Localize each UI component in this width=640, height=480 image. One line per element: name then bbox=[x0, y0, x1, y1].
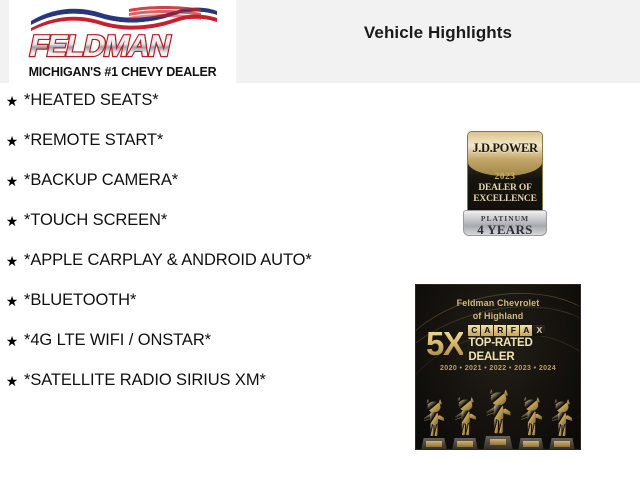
carfax-dealer-line2: of Highland bbox=[416, 310, 580, 323]
list-item: ★ *HEATED SEATS* bbox=[0, 88, 400, 114]
list-item-label: *HEATED SEATS* bbox=[24, 88, 159, 113]
list-item-label: *BLUETOOTH* bbox=[24, 288, 136, 313]
star-icon: ★ bbox=[0, 208, 24, 234]
carfax-trophy bbox=[547, 394, 577, 450]
feldman-wordmark: FELDMAN FELDMAN bbox=[20, 28, 225, 64]
list-item: ★ *BACKUP CAMERA* bbox=[0, 168, 400, 194]
carfax-letter: C bbox=[468, 325, 480, 336]
carfax-letter: F bbox=[507, 325, 519, 336]
carfax-dealer-line1: Feldman Chevrolet bbox=[416, 297, 580, 310]
list-item-label: *TOUCH SCREEN* bbox=[24, 208, 167, 233]
jd-power-award-title: DEALER OF EXCELLENCE bbox=[468, 183, 542, 205]
dealer-tagline: MICHIGAN'S #1 CHEVY DEALER bbox=[29, 65, 217, 79]
list-item: ★ *4G LTE WIFI / ONSTAR* bbox=[0, 328, 400, 354]
star-icon: ★ bbox=[0, 248, 24, 274]
carfax-logo-icon: C A R F A X bbox=[468, 325, 545, 336]
star-icon: ★ bbox=[0, 168, 24, 194]
carfax-trophy-row bbox=[416, 377, 580, 450]
carfax-letter: A bbox=[520, 325, 532, 336]
list-item: ★ *BLUETOOTH* bbox=[0, 288, 400, 314]
jd-power-award-line1: DEALER OF bbox=[468, 183, 542, 194]
svg-text:FELDMAN: FELDMAN bbox=[27, 30, 174, 63]
carfax-trophy-base bbox=[549, 438, 575, 450]
carfax-trophy bbox=[481, 383, 515, 450]
star-icon: ★ bbox=[0, 288, 24, 314]
carfax-rating-line1: TOP-RATED bbox=[468, 337, 545, 350]
carfax-trophy bbox=[516, 391, 546, 450]
vehicle-highlights-list: ★ *HEATED SEATS* ★ *REMOTE START* ★ *BAC… bbox=[0, 88, 400, 408]
carfax-trophy-base bbox=[483, 436, 513, 450]
carfax-letter: R bbox=[494, 325, 506, 336]
carfax-trophy-base bbox=[518, 438, 544, 450]
list-item-label: *SATELLITE RADIO SIRIUS XM* bbox=[24, 368, 266, 393]
list-item-label: *BACKUP CAMERA* bbox=[24, 168, 178, 193]
carfax-dealer-name: Feldman Chevrolet of Highland bbox=[416, 297, 580, 322]
dealer-logo[interactable]: FELDMAN FELDMAN MICHIGAN'S #1 CHEVY DEAL… bbox=[9, 0, 236, 83]
carfax-letter: X bbox=[533, 325, 545, 336]
carfax-trophy-base bbox=[421, 438, 447, 450]
carfax-rating-block: 5X C A R F A X TOP-RATED DEALER bbox=[426, 326, 574, 362]
jd-power-brand-label: J.D.POWER bbox=[468, 141, 542, 156]
carfax-trophy bbox=[450, 391, 480, 450]
carfax-rating-line2: DEALER bbox=[468, 351, 545, 364]
carfax-brand-block: C A R F A X TOP-RATED DEALER bbox=[468, 325, 545, 363]
list-item-label: *4G LTE WIFI / ONSTAR* bbox=[24, 328, 211, 353]
star-icon: ★ bbox=[0, 368, 24, 394]
carfax-award-years: 2020 • 2021 • 2022 • 2023 • 2024 bbox=[416, 365, 580, 372]
carfax-trophy-plate bbox=[490, 439, 506, 445]
list-item: ★ *SATELLITE RADIO SIRIUS XM* bbox=[0, 368, 400, 394]
carfax-trophy-plate bbox=[457, 441, 473, 447]
carfax-top-rated-dealer-award: Feldman Chevrolet of Highland 5X C A R F… bbox=[415, 284, 581, 450]
list-item: ★ *APPLE CARPLAY & ANDROID AUTO* bbox=[0, 248, 400, 274]
jd-power-base: PLATINUM 4 YEARS bbox=[463, 210, 547, 236]
carfax-letter: A bbox=[481, 325, 493, 336]
star-icon: ★ bbox=[0, 88, 24, 114]
jd-power-plate: J.D.POWER 2023 DEALER OF EXCELLENCE bbox=[467, 131, 543, 217]
star-icon: ★ bbox=[0, 328, 24, 354]
jd-power-award-line2: EXCELLENCE bbox=[468, 194, 542, 205]
carfax-trophy-plate bbox=[554, 441, 570, 447]
jd-power-duration: 4 YEARS bbox=[464, 222, 546, 238]
carfax-trophy bbox=[419, 394, 449, 450]
list-item-label: *REMOTE START* bbox=[24, 128, 163, 153]
list-item-label: *APPLE CARPLAY & ANDROID AUTO* bbox=[24, 248, 312, 273]
list-item: ★ *REMOTE START* bbox=[0, 128, 400, 154]
carfax-trophy-plate bbox=[426, 441, 442, 447]
jd-power-year: 2023 bbox=[468, 172, 542, 182]
header-band: FELDMAN FELDMAN MICHIGAN'S #1 CHEVY DEAL… bbox=[0, 0, 640, 83]
list-item: ★ *TOUCH SCREEN* bbox=[0, 208, 400, 234]
page-title: Vehicle Highlights bbox=[236, 0, 640, 83]
carfax-multiplier: 5X bbox=[426, 327, 463, 361]
carfax-trophy-plate bbox=[523, 441, 539, 447]
star-icon: ★ bbox=[0, 128, 24, 154]
jd-power-award-badge: J.D.POWER 2023 DEALER OF EXCELLENCE PLAT… bbox=[463, 131, 547, 236]
carfax-trophy-base bbox=[452, 438, 478, 450]
